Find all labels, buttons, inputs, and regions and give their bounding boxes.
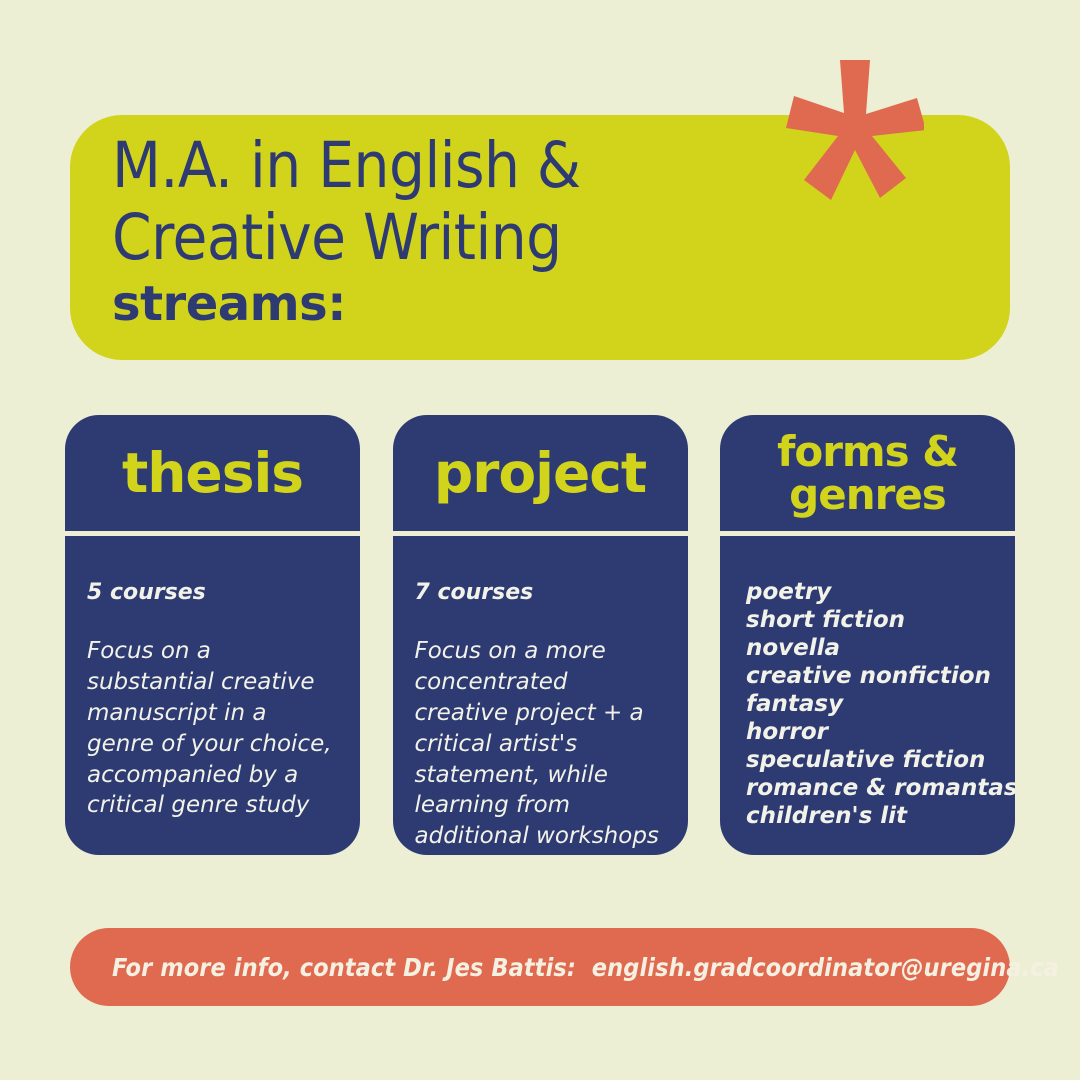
stream-card-thesis[interactable]: thesis 5 courses Focus on a substantial …: [65, 415, 360, 855]
card-title-thesis: thesis: [122, 446, 303, 501]
stream-card-project[interactable]: project 7 courses Focus on a more concen…: [393, 415, 688, 855]
card-body-thesis: 5 courses Focus on a substantial creativ…: [65, 536, 360, 855]
card-description-thesis: Focus on a substantial creative manuscri…: [87, 636, 336, 821]
card-header-forms-genres: forms & genres: [720, 415, 1015, 531]
page-subtitle: streams:: [112, 280, 346, 328]
list-item: speculative fiction: [746, 746, 991, 774]
card-title-forms-genres: forms & genres: [777, 430, 958, 517]
list-item: horror: [746, 718, 991, 746]
genre-list: poetry short fiction novella creative no…: [746, 578, 991, 830]
streams-card-row: thesis 5 courses Focus on a substantial …: [65, 415, 1015, 855]
contact-text: For more info, contact Dr. Jes Battis: e…: [112, 953, 1059, 982]
list-item: novella: [746, 634, 991, 662]
poster-canvas: M.A. in English & Creative Writing strea…: [0, 0, 1080, 1080]
card-courses-project: 7 courses: [415, 580, 664, 606]
card-header-thesis: thesis: [65, 415, 360, 531]
card-title-project: project: [434, 446, 646, 501]
stream-card-forms-genres[interactable]: forms & genres poetry short fiction nove…: [720, 415, 1015, 855]
list-item: poetry: [746, 578, 991, 606]
list-item: short fiction: [746, 606, 991, 634]
page-title: M.A. in English & Creative Writing: [112, 130, 812, 275]
card-body-project: 7 courses Focus on a more concentrated c…: [393, 536, 688, 855]
card-body-forms-genres: poetry short fiction novella creative no…: [720, 536, 1015, 855]
list-item: children's lit: [746, 802, 991, 830]
card-courses-thesis: 5 courses: [87, 580, 336, 606]
asterisk-icon: [786, 60, 924, 210]
list-item: romance & romantasy: [746, 774, 991, 802]
list-item: fantasy: [746, 690, 991, 718]
card-description-project: Focus on a more concentrated creative pr…: [415, 636, 664, 852]
list-item: creative nonfiction: [746, 662, 991, 690]
contact-banner[interactable]: For more info, contact Dr. Jes Battis: e…: [70, 928, 1010, 1006]
card-header-project: project: [393, 415, 688, 531]
